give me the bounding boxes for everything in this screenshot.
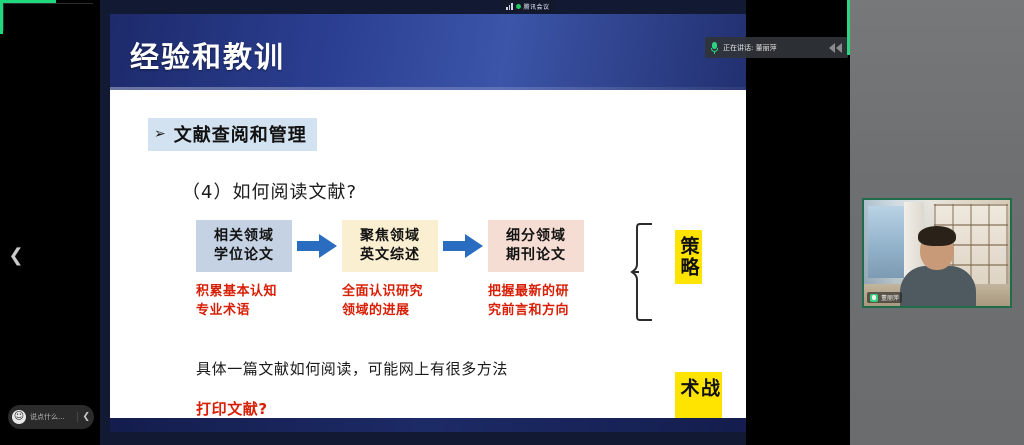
slide-red-note: 打印文献? — [196, 398, 268, 419]
slide-body: ➢ 文献查阅和管理 （4）如何阅读文献? 相关领域 学位论文 — [110, 90, 746, 418]
tag-strategy: 策略 — [675, 230, 702, 284]
app-brand-label: 腾讯会议 — [524, 2, 550, 11]
bullet-arrow-icon: ➢ — [154, 127, 166, 141]
slide-section-label: 文献查阅和管理 — [174, 121, 307, 147]
participant-body — [900, 266, 976, 308]
flow-description-2-line2: 领域的进展 — [342, 302, 488, 321]
participants-panel: 董丽萍 ❯ — [850, 0, 1024, 445]
participant-name-badge: 董丽萍 — [867, 292, 902, 303]
participant-name: 董丽萍 — [881, 293, 899, 302]
flow-box-1-line2: 学位论文 — [214, 246, 274, 265]
flow-descriptions: 积累基本认知 专业术语 全面认识研究 领域的进展 把握最新的研 究前言和方向 — [196, 283, 634, 321]
participant-video-tile[interactable]: 董丽萍 ❯ — [862, 198, 1012, 308]
slide-note: 具体一篇文献如何阅读，可能网上有很多方法 — [196, 358, 508, 379]
chat-input-placeholder[interactable]: 说点什么... — [30, 412, 73, 422]
flow-description-2: 全面认识研究 领域的进展 — [342, 283, 488, 321]
chevron-right-icon[interactable]: ❯ — [998, 246, 1008, 260]
flow-diagram: 相关领域 学位论文 聚焦领域 英文综述 — [196, 220, 584, 272]
collapse-panel-button[interactable]: ❮ — [6, 243, 26, 269]
flow-box-2-line1: 聚焦领域 — [360, 227, 420, 246]
flow-box-3-line1: 细分领域 — [506, 227, 566, 246]
screen-share-frame-inner — [3, 3, 93, 31]
slide-question: （4）如何阅读文献? — [182, 178, 357, 204]
flow-description-3-line2: 究前言和方向 — [488, 302, 634, 321]
slide-title: 经验和教训 — [130, 34, 285, 76]
active-speaker-bar: 正在讲话: 董丽萍 — [705, 37, 848, 58]
left-rail: ❮ ☺ 说点什么... ❮ — [0, 0, 100, 445]
sound-wave-icon — [829, 43, 842, 53]
flow-box-2: 聚焦领域 英文综述 — [342, 220, 438, 272]
flow-box-1: 相关领域 学位论文 — [196, 220, 292, 272]
app-brand-badge: 腾讯会议 — [501, 0, 555, 12]
signal-bars-icon — [506, 3, 513, 10]
slide-section-header: ➢ 文献查阅和管理 — [148, 118, 317, 151]
right-arrow-icon-1 — [292, 234, 342, 258]
flow-box-2-line2: 英文综述 — [360, 246, 420, 265]
participant-hair — [918, 226, 956, 246]
flow-box-3: 细分领域 期刊论文 — [488, 220, 584, 272]
flow-description-3: 把握最新的研 究前言和方向 — [488, 283, 634, 321]
emoji-smiley-icon[interactable]: ☺ — [12, 410, 26, 424]
chat-input-bar[interactable]: ☺ 说点什么... ❮ — [8, 405, 94, 429]
mic-on-icon — [870, 294, 878, 302]
presentation-slide: 经验和教训 ➢ 文献查阅和管理 （4）如何阅读文献? 相关领域 学位论文 — [110, 14, 746, 432]
flow-description-1-line1: 积累基本认知 — [196, 283, 342, 302]
recording-dot-icon — [516, 4, 521, 9]
chat-expand-icon[interactable]: ❮ — [77, 412, 90, 422]
flow-description-3-line1: 把握最新的研 — [488, 283, 634, 302]
active-speaker-label: 正在讲话: 董丽萍 — [723, 43, 824, 53]
tag-tactics: 战术 — [675, 372, 722, 418]
right-arrow-icon-2 — [438, 234, 488, 258]
flow-box-3-line2: 期刊论文 — [506, 246, 566, 265]
microphone-icon — [711, 42, 718, 54]
slide-footer-band — [110, 418, 746, 432]
flow-description-1-line2: 专业术语 — [196, 302, 342, 321]
meeting-window: ❮ ☺ 说点什么... ❮ 经验和教训 ➢ 文献查阅和管理 （4）如何阅读文献? — [0, 0, 1024, 445]
curly-brace-icon — [630, 222, 656, 322]
shared-screen-area: 经验和教训 ➢ 文献查阅和管理 （4）如何阅读文献? 相关领域 学位论文 — [100, 0, 746, 445]
flow-box-1-line1: 相关领域 — [214, 227, 274, 246]
flow-description-2-line1: 全面认识研究 — [342, 283, 488, 302]
chevron-left-icon: ❮ — [8, 245, 23, 266]
flow-description-1: 积累基本认知 专业术语 — [196, 283, 342, 321]
